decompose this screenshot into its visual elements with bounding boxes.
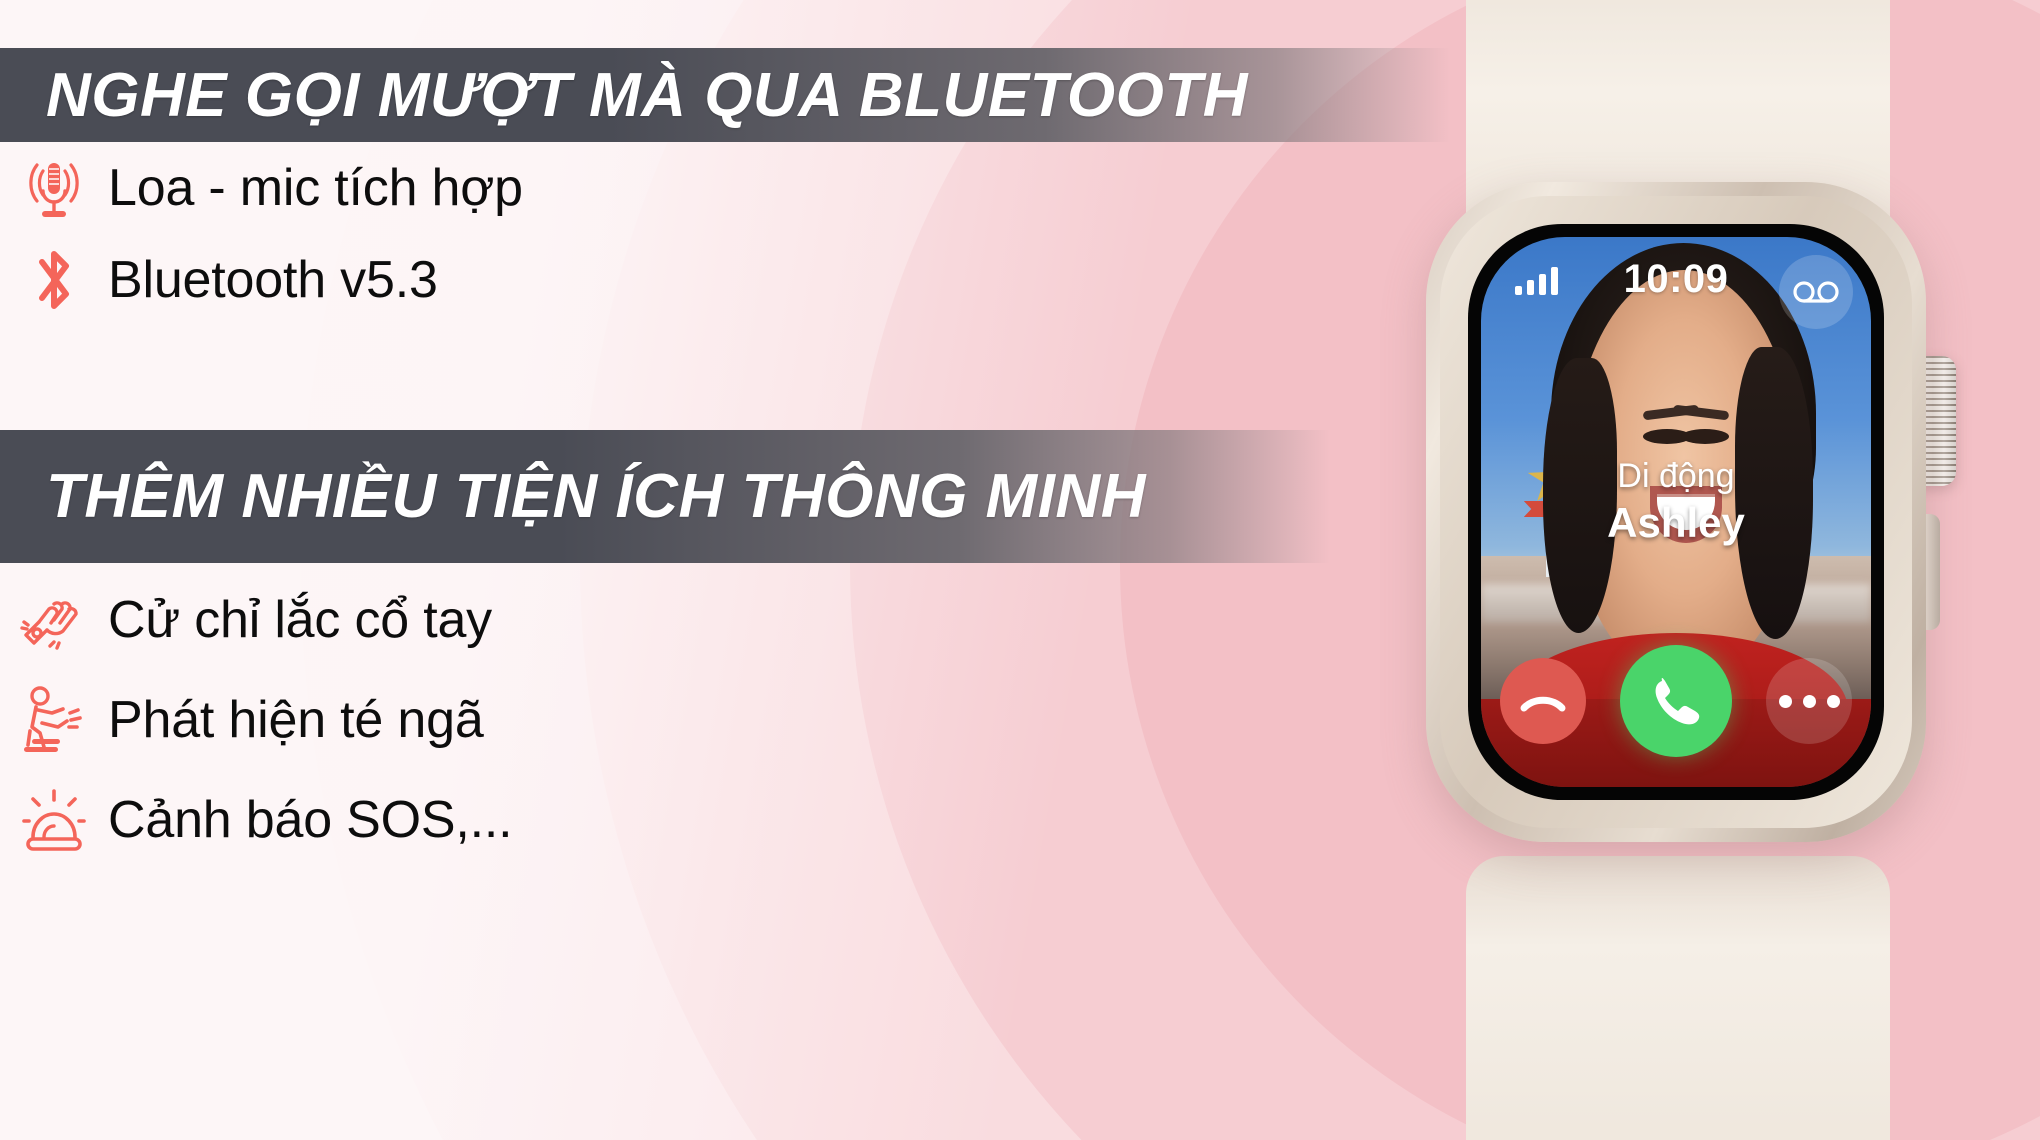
feature-label: Cảnh báo SOS,... [108,790,512,850]
section-banner-bluetooth-call: NGHE GỌI MƯỢT MÀ QUA BLUETOOTH [0,48,1450,142]
smartwatch: 10:09 Di động [1318,0,2038,1140]
feature-label: Bluetooth v5.3 [108,250,438,310]
watch-case-inner: 10:09 Di động [1440,196,1912,828]
decline-call-button[interactable] [1500,658,1586,744]
feature-item-wrist-gesture: Cử chỉ lắc cổ tay [0,570,512,670]
microphone-icon [0,153,108,223]
feature-label: Cử chỉ lắc cổ tay [108,590,492,650]
watch-case: 10:09 Di động [1426,182,1926,842]
watch-screen-bezel: 10:09 Di động [1468,224,1884,800]
fall-detection-icon [0,683,108,757]
more-options-button[interactable] [1766,658,1852,744]
watch-status-bar: 10:09 [1481,257,1871,303]
banner-title: THÊM NHIỀU TIỆN ÍCH THÔNG MINH [46,461,1146,532]
feature-item-fall-detection: Phát hiện té ngã [0,670,512,770]
hand-gesture-icon [0,584,108,656]
feature-list-smart-features: Cử chỉ lắc cổ tay Phát hiện té [0,570,512,870]
feature-item-sos-alert: Cảnh báo SOS,... [0,770,512,870]
accept-call-button[interactable] [1620,645,1732,757]
caller-info: Di động Ashley [1481,457,1871,548]
feature-item-bluetooth: Bluetooth v5.3 [0,234,523,326]
feature-item-speaker-mic: Loa - mic tích hợp [0,142,523,234]
promo-banner: NGHE GỌI MƯỢT MÀ QUA BLUETOOTH [0,0,2040,1140]
watch-screen[interactable]: 10:09 Di động [1481,237,1871,787]
bluetooth-icon [0,244,108,316]
more-dots-icon [1779,695,1840,708]
feature-label: Phát hiện té ngã [108,690,484,750]
feature-label: Loa - mic tích hợp [108,158,523,218]
feature-list-bluetooth-call: Loa - mic tích hợp Bluetooth v5.3 [0,142,523,326]
sos-siren-icon [0,783,108,857]
caller-line-label: Di động [1481,457,1871,496]
voicemail-icon[interactable] [1779,255,1853,329]
call-actions [1481,641,1871,761]
caller-name: Ashley [1481,498,1871,548]
banner-title: NGHE GỌI MƯỢT MÀ QUA BLUETOOTH [46,60,1248,131]
section-banner-smart-features: THÊM NHIỀU TIỆN ÍCH THÔNG MINH [0,430,1330,563]
watch-band-bottom [1466,856,1890,1140]
